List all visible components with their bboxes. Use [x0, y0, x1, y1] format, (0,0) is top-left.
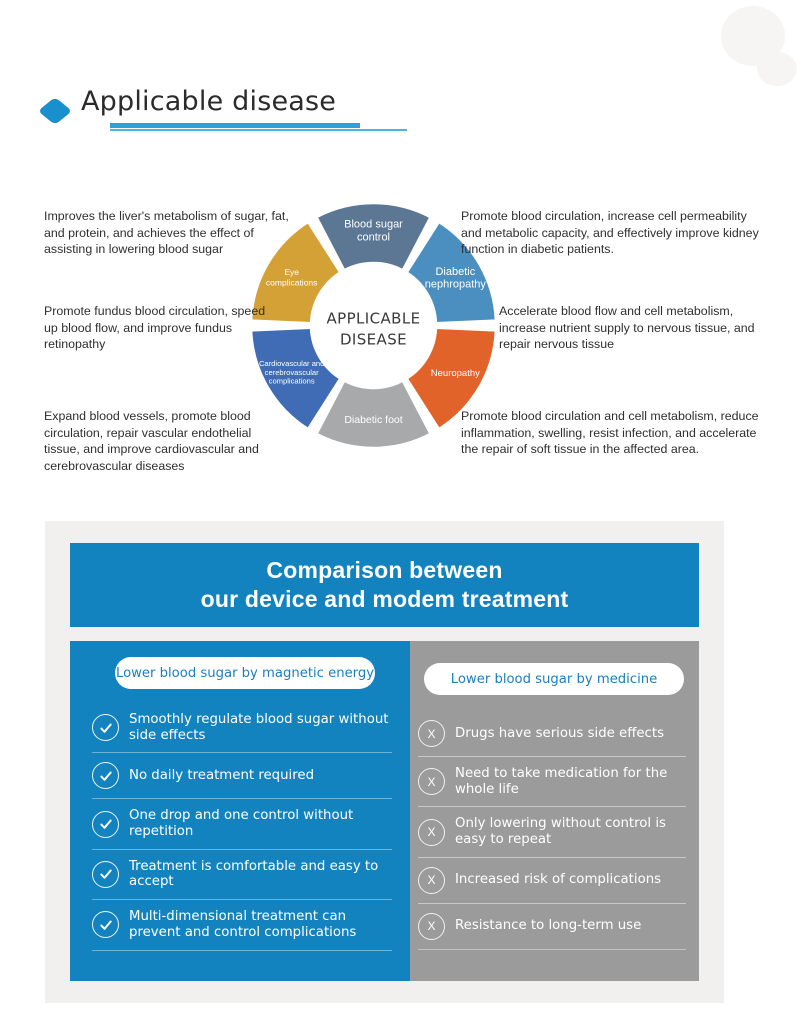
drawback-row: XResistance to long-term use — [418, 904, 686, 950]
advantage-row: No daily treatment required — [92, 753, 392, 799]
drawback-row: XNeed to take medication for the whole l… — [418, 757, 686, 807]
advantage-label: No daily treatment required — [129, 768, 314, 784]
column-left-pill-label: Lower blood sugar by magnetic energy — [115, 657, 375, 689]
donut-label-diabetic-foot: Diabetic foot — [344, 414, 402, 426]
comparison-columns: Lower blood sugar by magnetic energy Smo… — [70, 641, 699, 981]
drawback-label: Resistance to long-term use — [455, 918, 641, 934]
comparison-title-line1: Comparison between — [266, 556, 502, 585]
page-title: Applicable disease — [81, 86, 336, 117]
description-cardiovascular: Expand blood vessels, promote blood circ… — [44, 408, 274, 474]
column-magnetic-energy: Lower blood sugar by magnetic energy Smo… — [70, 641, 410, 981]
advantage-label: One drop and one control without repetit… — [129, 808, 392, 839]
diamond-bullet-icon — [38, 97, 72, 125]
advantage-row: Treatment is comfortable and easy to acc… — [92, 850, 392, 900]
cross-icon: X — [418, 768, 445, 795]
heading-underline-thick — [110, 123, 360, 128]
donut-center-label: APPLICABLEDISEASE — [327, 310, 421, 349]
section-heading: Applicable disease — [44, 88, 384, 138]
advantage-label: Multi-dimensional treatment can prevent … — [129, 909, 392, 940]
check-icon — [92, 714, 119, 741]
column-right-pill-label: Lower blood sugar by medicine — [424, 663, 684, 695]
description-diabetic-nephropathy: Promote blood circulation, increase cell… — [461, 208, 761, 258]
drawback-row: XOnly lowering without control is easy t… — [418, 807, 686, 857]
cross-icon: X — [418, 819, 445, 846]
donut-label-neuropathy: Neuropathy — [431, 367, 480, 378]
description-neuropathy: Accelerate blood flow and cell metabolis… — [499, 303, 771, 353]
column-right-items: XDrugs have serious side effectsXNeed to… — [418, 711, 686, 950]
comparison-panel: Comparison between our device and modem … — [45, 521, 724, 1003]
drawback-row: XDrugs have serious side effects — [418, 711, 686, 757]
donut-label-cardiovascular-complications: Cardiovascular andcerebrovascularcomplic… — [259, 359, 324, 386]
drawback-label: Need to take medication for the whole li… — [455, 766, 686, 797]
advantage-row: One drop and one control without repetit… — [92, 799, 392, 849]
drawback-label: Increased risk of complications — [455, 872, 661, 888]
description-blood-sugar-control: Improves the liver's metabolism of sugar… — [44, 208, 299, 258]
description-diabetic-foot: Promote blood circulation and cell metab… — [461, 408, 761, 458]
check-icon — [92, 911, 119, 938]
cross-icon: X — [418, 720, 445, 747]
background-blob — [757, 52, 797, 86]
check-icon — [92, 762, 119, 789]
column-left-items: Smoothly regulate blood sugar without si… — [92, 703, 392, 951]
cross-icon: X — [418, 913, 445, 940]
advantage-row: Multi-dimensional treatment can prevent … — [92, 900, 392, 950]
advantage-label: Treatment is comfortable and easy to acc… — [129, 859, 392, 890]
comparison-title-line2: our device and modem treatment — [201, 585, 569, 614]
comparison-title: Comparison between our device and modem … — [70, 543, 699, 627]
check-icon — [92, 861, 119, 888]
check-icon — [92, 811, 119, 838]
description-eye-complications: Promote fundus blood circulation, speed … — [44, 303, 279, 353]
drawback-label: Drugs have serious side effects — [455, 726, 664, 742]
heading-underline-thin — [110, 129, 407, 131]
drawback-label: Only lowering without control is easy to… — [455, 816, 686, 847]
column-medicine: Lower blood sugar by medicine XDrugs hav… — [410, 641, 699, 981]
drawback-row: XIncreased risk of complications — [418, 858, 686, 904]
advantage-row: Smoothly regulate blood sugar without si… — [92, 703, 392, 753]
cross-icon: X — [418, 867, 445, 894]
advantage-label: Smoothly regulate blood sugar without si… — [129, 712, 392, 743]
